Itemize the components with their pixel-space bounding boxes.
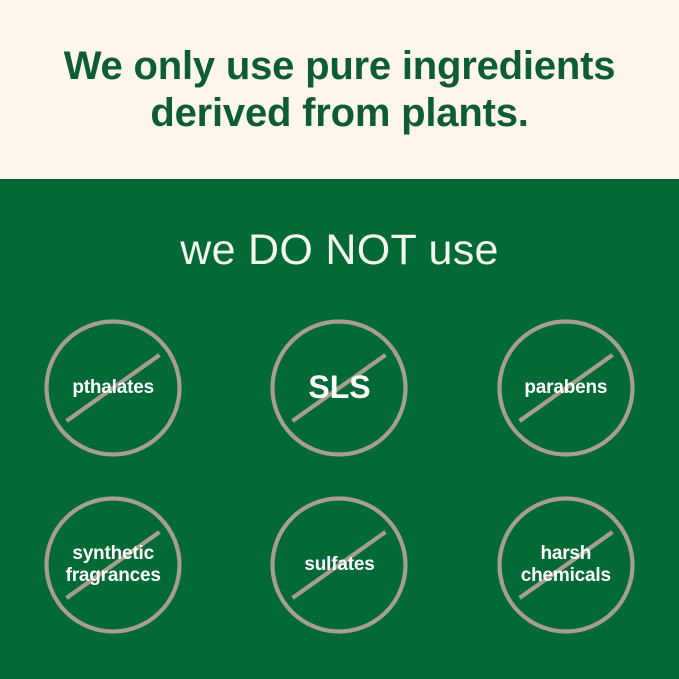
badge-label: pthalates — [70, 377, 156, 398]
badge-label: SLS — [306, 370, 372, 406]
badge-label: parabens — [522, 377, 609, 398]
panel-title: we DO NOT use — [0, 226, 679, 275]
excluded-ingredients-grid: pthalates SLS parabens — [0, 299, 679, 653]
do-not-use-panel: we DO NOT use pthalates SLS — [0, 179, 679, 679]
badge-parabens: parabens — [497, 319, 635, 457]
headline-banner: We only use pure ingredients derived fro… — [0, 0, 679, 179]
promo-poster: We only use pure ingredients derived fro… — [0, 0, 679, 679]
badge-harsh-chemicals: harsh chemicals — [497, 496, 635, 634]
badge-label: harsh chemicals — [519, 543, 613, 586]
badge-synthetic-fragrances: synthetic fragrances — [44, 496, 182, 634]
badge-pthalates: pthalates — [44, 319, 182, 457]
badge-label: sulfates — [302, 554, 376, 575]
badge-sulfates: sulfates — [270, 496, 408, 634]
badge-sls: SLS — [270, 319, 408, 457]
badge-label: synthetic fragrances — [64, 543, 163, 586]
page-title: We only use pure ingredients derived fro… — [30, 43, 650, 137]
